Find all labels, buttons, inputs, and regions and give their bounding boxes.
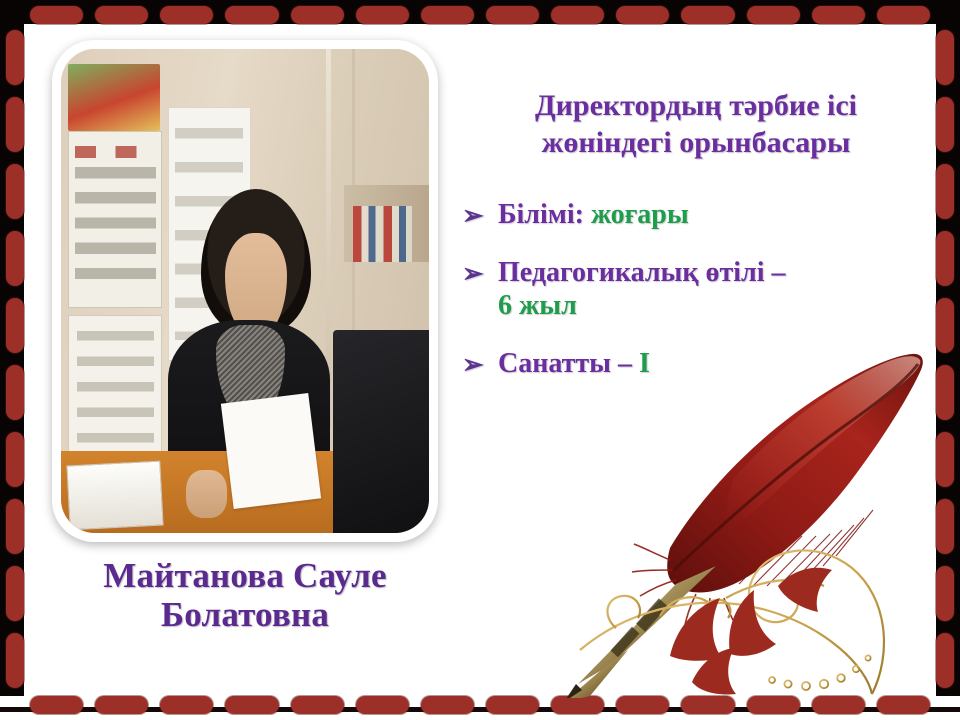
bullet-label-education: Білімі: [498, 199, 591, 230]
bullet-value-education: жоғары [591, 199, 689, 230]
frame-dash [616, 696, 669, 714]
arrow-bullet-icon: ➢ [462, 200, 484, 231]
frame-dash [6, 499, 24, 554]
frame-dash [421, 696, 474, 714]
frame-dash [877, 696, 930, 714]
person-name-caption: Майтанова Сауле Болатовна [40, 556, 450, 634]
frame-dash [6, 365, 24, 420]
frame-dash [95, 696, 148, 714]
frame-dash [812, 696, 865, 714]
frame-dash [6, 432, 24, 487]
frame-dash [6, 30, 24, 85]
frame-dash [95, 6, 148, 24]
frame-dash [486, 6, 539, 24]
portrait-photo [61, 49, 429, 533]
frame-dash [356, 6, 409, 24]
arrow-bullet-icon: ➢ [462, 349, 484, 380]
quill-pen-illustration [520, 298, 950, 698]
frame-dash [6, 633, 24, 688]
arrow-bullet-icon: ➢ [462, 258, 484, 289]
frame-dash [225, 696, 278, 714]
frame-dash [6, 164, 24, 219]
photo-wall-calendar-grid [68, 131, 162, 307]
photo-open-notebook [67, 461, 164, 531]
frame-dash [421, 6, 474, 24]
frame-dash [6, 231, 24, 286]
frame-dash [747, 6, 800, 24]
photo-person-hands [186, 470, 226, 518]
frame-dash [681, 6, 734, 24]
slide-title-line-1: Директордың тәрбие ісі [452, 88, 940, 125]
photo-paper-sheet [220, 393, 321, 509]
photo-bookshelf [344, 185, 429, 262]
frame-dash [356, 696, 409, 714]
frame-dash [936, 30, 954, 85]
person-name-line-1: Майтанова Сауле [40, 556, 450, 595]
frame-dash [30, 6, 83, 24]
gold-dots [769, 655, 871, 690]
portrait-photo-frame [52, 40, 438, 542]
frame-dash [30, 696, 83, 714]
photo-monitor [333, 330, 429, 533]
frame-dashes-left [3, 24, 27, 696]
photo-wall-calendar-lower [68, 315, 162, 462]
photo-wall-calendar-image [68, 64, 160, 132]
person-name-line-2: Болатовна [40, 595, 450, 634]
slide-title: Директордың тәрбие ісі жөніндегі орынбас… [452, 88, 940, 161]
frame-dash [551, 6, 604, 24]
frame-dash [551, 696, 604, 714]
slide-canvas: Майтанова Сауле Болатовна Директордың тә… [0, 0, 960, 720]
bullet-item-education: ➢ Білімі: жоғары [452, 198, 952, 232]
frame-dash [681, 696, 734, 714]
bullet-label-experience: Педагогикалық өтілі – [498, 257, 786, 288]
frame-dash [225, 6, 278, 24]
frame-dash [160, 6, 213, 24]
frame-dash [486, 696, 539, 714]
frame-dash [291, 696, 344, 714]
slide-title-line-2: жөніндегі орынбасары [452, 125, 940, 162]
frame-dashes-top [24, 3, 936, 27]
frame-dash [6, 97, 24, 152]
frame-dash [6, 298, 24, 353]
frame-dash [291, 6, 344, 24]
frame-dash [747, 696, 800, 714]
frame-dash [812, 6, 865, 24]
frame-dash [877, 6, 930, 24]
frame-dash [616, 6, 669, 24]
frame-dash [6, 566, 24, 621]
frame-dash [160, 696, 213, 714]
